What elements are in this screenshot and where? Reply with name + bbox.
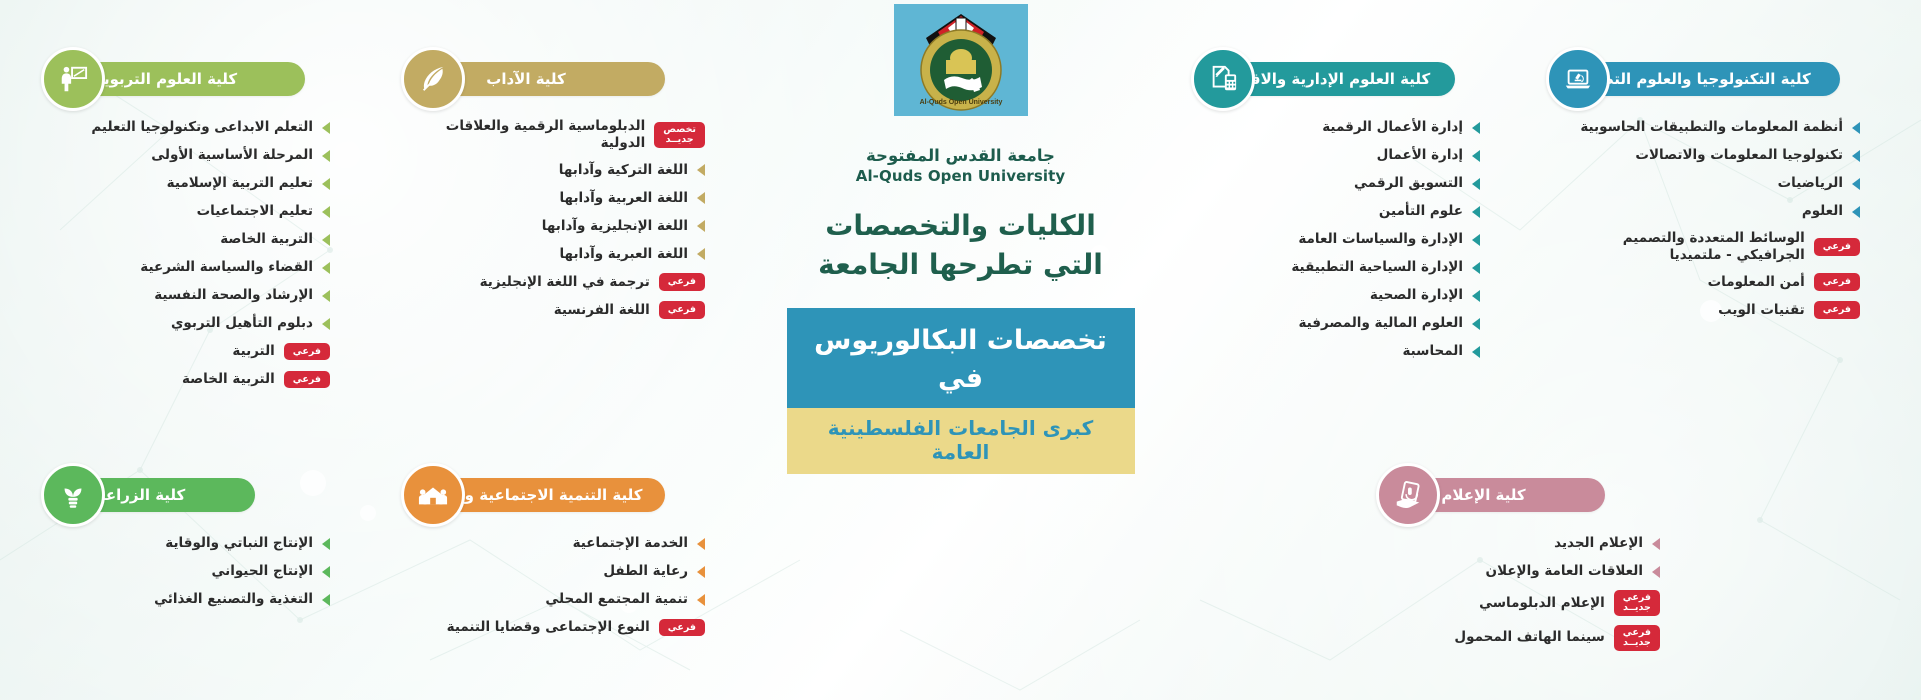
college-block-administrative-economic-sciences: كلية العلوم الإدارية والاقتصاديةإدارة ال… xyxy=(1205,62,1480,370)
bullet-arrow-icon xyxy=(322,150,330,162)
specialization-list: الإعلام الجديدالعلاقات العامة والإعلانفر… xyxy=(1390,534,1660,651)
bullet-arrow-icon xyxy=(1472,318,1480,330)
specialization-label: العلوم xyxy=(1802,203,1843,220)
degree-banner: تخصصات البكالوريوس في كبرى الجامعات الفل… xyxy=(787,308,1135,474)
specialization-label: اللغة العبرية وآدابها xyxy=(559,246,688,263)
specialization-item[interactable]: تنمية المجتمع المحلي xyxy=(415,590,705,609)
infographic-canvas: Al-Quds Open University جامعة القدس المف… xyxy=(0,0,1921,700)
college-header-media[interactable]: كلية الإعلام xyxy=(1390,478,1605,512)
specialization-label: الإعلام الجديد xyxy=(1554,535,1643,552)
microphone-hand-icon xyxy=(1376,463,1440,527)
specialization-label: دبلوم التأهيل التربوي xyxy=(171,315,313,332)
minor-new-badge: فرعي جديــد xyxy=(1614,590,1660,616)
bullet-arrow-icon xyxy=(322,262,330,274)
specialization-label: التربية الخاصة xyxy=(182,371,275,388)
minor-badge: فرعي xyxy=(284,371,330,389)
specialization-item[interactable]: إدارة الأعمال الرقمية xyxy=(1205,118,1480,137)
specialization-label: الإعلام الدبلوماسي xyxy=(1479,595,1605,612)
bullet-arrow-icon xyxy=(322,178,330,190)
specialization-item[interactable]: الإعلام الجديد xyxy=(1390,534,1660,553)
college-block-social-family-development: كلية التنمية الاجتماعية والأسريةالخدمة ا… xyxy=(415,478,705,646)
specialization-label: اللغة الإنجليزية وآدابها xyxy=(542,218,688,235)
specialization-item[interactable]: الإدارة السياحية التطبيقية xyxy=(1205,258,1480,277)
specialization-list: الإنتاج النباتي والوقايةالإنتاج الحيواني… xyxy=(55,534,330,609)
specialization-item[interactable]: اللغة الإنجليزية وآدابها xyxy=(415,217,705,236)
bullet-arrow-icon xyxy=(697,538,705,550)
minor-badge: فرعي xyxy=(659,619,705,637)
specialization-label: الإدارة الصحية xyxy=(1370,287,1463,304)
svg-text:Al-Quds Open University: Al-Quds Open University xyxy=(919,99,1002,106)
bullet-arrow-icon xyxy=(697,164,705,176)
bullet-arrow-icon xyxy=(1472,290,1480,302)
specialization-list: الخدمة الإجتماعيةرعاية الطفلتنمية المجتم… xyxy=(415,534,705,637)
bullet-arrow-icon xyxy=(1652,566,1660,578)
bullet-arrow-icon xyxy=(1472,206,1480,218)
family-home-icon xyxy=(401,463,465,527)
bullet-arrow-icon xyxy=(1472,346,1480,358)
specialization-item[interactable]: الإنتاج النباتي والوقاية xyxy=(55,534,330,553)
bullet-arrow-icon xyxy=(697,220,705,232)
specialization-item[interactable]: العلوم xyxy=(1560,202,1860,221)
specialization-item[interactable]: تعليم التربية الإسلامية xyxy=(55,174,330,193)
specialization-item[interactable]: تكنولوجيا المعلومات والاتصالات xyxy=(1560,146,1860,165)
college-block-educational-sciences: كلية العلوم التربويةالتعلم الابداعى وتكن… xyxy=(55,62,330,398)
bullet-arrow-icon xyxy=(697,594,705,606)
specialization-label: التغذية والتصنيع الغذائي xyxy=(154,591,313,608)
specialization-item[interactable]: إدارة الأعمال xyxy=(1205,146,1480,165)
bullet-arrow-icon xyxy=(1472,262,1480,274)
specialization-item[interactable]: التغذية والتصنيع الغذائي xyxy=(55,590,330,609)
specialization-label: الإنتاج الحيواني xyxy=(211,563,313,580)
university-name-arabic: جامعة القدس المفتوحة xyxy=(746,146,1176,165)
college-block-agriculture: كلية الزراعةالإنتاج النباتي والوقايةالإن… xyxy=(55,478,330,618)
specialization-label: أنظمة المعلومات والتطبيقات الحاسوبية xyxy=(1580,119,1843,136)
specialization-item[interactable]: أنظمة المعلومات والتطبيقات الحاسوبية xyxy=(1560,118,1860,137)
college-title: كلية العلوم التربوية xyxy=(77,70,283,88)
specialization-item[interactable]: الرياضيات xyxy=(1560,174,1860,193)
bullet-arrow-icon xyxy=(322,538,330,550)
bullet-arrow-icon xyxy=(697,192,705,204)
specialization-label: التربية الخاصة xyxy=(220,231,313,248)
specialization-label: سينما الهاتف المحمول xyxy=(1454,629,1604,646)
specialization-item[interactable]: علوم التأمين xyxy=(1205,202,1480,221)
specialization-item[interactable]: فرعي جديــدسينما الهاتف المحمول xyxy=(1390,625,1660,651)
specialization-label: اللغة العربية وآدابها xyxy=(559,190,688,207)
minor-badge: فرعي xyxy=(1814,273,1860,291)
bullet-arrow-icon xyxy=(1852,178,1860,190)
specialization-label: رعاية الطفل xyxy=(603,563,688,580)
specialization-item[interactable]: الإنتاج الحيواني xyxy=(55,562,330,581)
specialization-item[interactable]: اللغة العبرية وآدابها xyxy=(415,245,705,264)
college-header-arts[interactable]: كلية الآداب xyxy=(415,62,665,96)
specialization-label: الإدارة والسياسات العامة xyxy=(1298,231,1463,248)
specialization-item[interactable]: المحاسبة xyxy=(1205,342,1480,361)
specialization-item[interactable]: رعاية الطفل xyxy=(415,562,705,581)
quill-pen-icon xyxy=(401,47,465,111)
specialization-item[interactable]: تخصص جديــدالدبلوماسية الرقمية والعلاقات… xyxy=(415,118,705,152)
bullet-arrow-icon xyxy=(322,318,330,330)
specialization-list: التعلم الابداعى وتكنولوجيا التعليمالمرحل… xyxy=(55,118,330,389)
specialization-label: علوم التأمين xyxy=(1379,203,1463,220)
university-name-english: Al-Quds Open University xyxy=(746,167,1176,185)
specialization-item[interactable]: فرعياللغة الفرنسية xyxy=(415,301,705,320)
specialization-label: ترجمة في اللغة الإنجليزية xyxy=(480,274,650,291)
bullet-arrow-icon xyxy=(1472,234,1480,246)
minor-badge: فرعي xyxy=(284,343,330,361)
specialization-label: الإدارة السياحية التطبيقية xyxy=(1291,259,1463,276)
specialization-item[interactable]: اللغة العربية وآدابها xyxy=(415,189,705,208)
specialization-label: إدارة الأعمال الرقمية xyxy=(1322,119,1463,136)
minor-new-badge: فرعي جديــد xyxy=(1614,625,1660,651)
specialization-label: الإنتاج النباتي والوقاية xyxy=(165,535,313,552)
specialization-label: القضاء والسياسة الشرعية xyxy=(140,259,313,276)
center-panel: Al-Quds Open University جامعة القدس المف… xyxy=(746,0,1176,474)
specialization-item[interactable]: العلاقات العامة والإعلان xyxy=(1390,562,1660,581)
specialization-label: تعليم الاجتماعيات xyxy=(197,203,313,220)
specialization-item[interactable]: فرعي جديــدالإعلام الدبلوماسي xyxy=(1390,590,1660,616)
specialization-item[interactable]: فرعيتقنيات الويب xyxy=(1560,301,1860,320)
specialization-label: العلاقات العامة والإعلان xyxy=(1486,563,1643,580)
college-title: كلية الآداب xyxy=(468,70,612,88)
minor-badge: فرعي xyxy=(659,273,705,291)
specialization-item[interactable]: تعليم الاجتماعيات xyxy=(55,202,330,221)
specialization-label: تنمية المجتمع المحلي xyxy=(545,591,688,608)
specialization-item[interactable]: فرعيالوسائط المتعددة والتصميم الجرافيكي … xyxy=(1560,230,1860,264)
bullet-arrow-icon xyxy=(697,248,705,260)
plant-sprout-icon xyxy=(41,463,105,527)
bullet-arrow-icon xyxy=(322,122,330,134)
bullet-arrow-icon xyxy=(1852,122,1860,134)
specialization-list: إدارة الأعمال الرقميةإدارة الأعمالالتسوي… xyxy=(1205,118,1480,361)
bullet-arrow-icon xyxy=(322,206,330,218)
specialization-label: الخدمة الإجتماعية xyxy=(573,535,688,552)
bullet-arrow-icon xyxy=(697,566,705,578)
laptop-microscope-icon xyxy=(1546,47,1610,111)
specialization-label: العلوم المالية والمصرفية xyxy=(1298,315,1463,332)
specialization-label: المحاسبة xyxy=(1402,343,1463,360)
specialization-label: الوسائط المتعددة والتصميم الجرافيكي - مل… xyxy=(1623,230,1805,264)
specialization-item[interactable]: اللغة التركية وآدابها xyxy=(415,161,705,180)
college-block-arts: كلية الآدابتخصص جديــدالدبلوماسية الرقمي… xyxy=(415,62,705,329)
page-title: الكليات والتخصصات التي تطرحها الجامعة xyxy=(746,207,1176,284)
bullet-arrow-icon xyxy=(322,566,330,578)
specialization-list: أنظمة المعلومات والتطبيقات الحاسوبيةتكنو… xyxy=(1560,118,1860,320)
specialization-item[interactable]: فرعيالتربية الخاصة xyxy=(55,370,330,389)
specialization-item[interactable]: التسويق الرقمي xyxy=(1205,174,1480,193)
specialization-item[interactable]: فرعيالنوع الإجتماعى وقضايا التنمية xyxy=(415,618,705,637)
specialization-label: تقنيات الويب xyxy=(1718,302,1805,319)
specialization-item[interactable]: الخدمة الإجتماعية xyxy=(415,534,705,553)
bullet-arrow-icon xyxy=(1472,122,1480,134)
specialization-label: الإرشاد والصحة النفسية xyxy=(154,287,313,304)
specialization-item[interactable]: فرعيترجمة في اللغة الإنجليزية xyxy=(415,273,705,292)
specialization-item[interactable]: المرحلة الأساسية الأولى xyxy=(55,146,330,165)
specialization-item[interactable]: دبلوم التأهيل التربوي xyxy=(55,314,330,333)
banner-primary-text: تخصصات البكالوريوس في xyxy=(787,308,1135,408)
bullet-arrow-icon xyxy=(1472,178,1480,190)
college-header-administrative-economic-sciences[interactable]: كلية العلوم الإدارية والاقتصادية xyxy=(1205,62,1455,96)
bokeh-dot xyxy=(360,505,376,521)
specialization-label: أمن المعلومات xyxy=(1708,274,1805,291)
specialization-item[interactable]: العلوم المالية والمصرفية xyxy=(1205,314,1480,333)
specialization-label: تعليم التربية الإسلامية xyxy=(167,175,313,192)
specialization-label: التعلم الابداعى وتكنولوجيا التعليم xyxy=(91,119,313,136)
minor-badge: فرعي xyxy=(659,301,705,319)
specialization-label: الدبلوماسية الرقمية والعلاقات الدولية xyxy=(415,118,645,152)
bullet-arrow-icon xyxy=(322,290,330,302)
specialization-list: تخصص جديــدالدبلوماسية الرقمية والعلاقات… xyxy=(415,118,705,320)
university-logo: Al-Quds Open University xyxy=(746,4,1176,134)
specialization-label: اللغة الفرنسية xyxy=(554,302,650,319)
specialization-item[interactable]: فرعيأمن المعلومات xyxy=(1560,273,1860,292)
minor-badge: فرعي xyxy=(1814,238,1860,256)
specialization-label: إدارة الأعمال xyxy=(1377,147,1463,164)
specialization-item[interactable]: التعلم الابداعى وتكنولوجيا التعليم xyxy=(55,118,330,137)
college-block-technology-applied-sciences: كلية التكنولوجيا والعلوم التطبيقيةأنظمة … xyxy=(1560,62,1860,329)
bullet-arrow-icon xyxy=(322,594,330,606)
specialization-label: اللغة التركية وآدابها xyxy=(559,162,688,179)
specialization-label: النوع الإجتماعى وقضايا التنمية xyxy=(447,619,650,636)
specialization-item[interactable]: الإدارة والسياسات العامة xyxy=(1205,230,1480,249)
specialization-label: التسويق الرقمي xyxy=(1354,175,1463,192)
college-header-educational-sciences[interactable]: كلية العلوم التربوية xyxy=(55,62,305,96)
college-header-agriculture[interactable]: كلية الزراعة xyxy=(55,478,255,512)
teacher-board-icon xyxy=(41,47,105,111)
specialization-item[interactable]: الإرشاد والصحة النفسية xyxy=(55,286,330,305)
specialization-item[interactable]: القضاء والسياسة الشرعية xyxy=(55,258,330,277)
banner-secondary-text: كبرى الجامعات الفلسطينية العامة xyxy=(787,408,1135,474)
minor-badge: فرعي xyxy=(1814,301,1860,319)
college-header-social-family-development[interactable]: كلية التنمية الاجتماعية والأسرية xyxy=(415,478,665,512)
specialization-label: تكنولوجيا المعلومات والاتصالات xyxy=(1635,147,1843,164)
college-title: كلية الإعلام xyxy=(1423,486,1571,504)
specialization-label: المرحلة الأساسية الأولى xyxy=(151,147,313,164)
specialization-item[interactable]: فرعيالتربية xyxy=(55,342,330,361)
college-block-media: كلية الإعلامالإعلام الجديدالعلاقات العام… xyxy=(1390,478,1660,660)
bullet-arrow-icon xyxy=(1652,538,1660,550)
specialization-item[interactable]: الإدارة الصحية xyxy=(1205,286,1480,305)
bullet-arrow-icon xyxy=(1852,206,1860,218)
new-major-badge: تخصص جديــد xyxy=(654,122,705,148)
specialization-label: التربية xyxy=(232,343,274,360)
bullet-arrow-icon xyxy=(1852,150,1860,162)
college-header-technology-applied-sciences[interactable]: كلية التكنولوجيا والعلوم التطبيقية xyxy=(1560,62,1840,96)
university-crest-icon: Al-Quds Open University xyxy=(886,4,1036,134)
specialization-item[interactable]: التربية الخاصة xyxy=(55,230,330,249)
bullet-arrow-icon xyxy=(322,234,330,246)
specialization-label: الرياضيات xyxy=(1778,175,1843,192)
bullet-arrow-icon xyxy=(1472,150,1480,162)
calculator-document-icon xyxy=(1191,47,1255,111)
